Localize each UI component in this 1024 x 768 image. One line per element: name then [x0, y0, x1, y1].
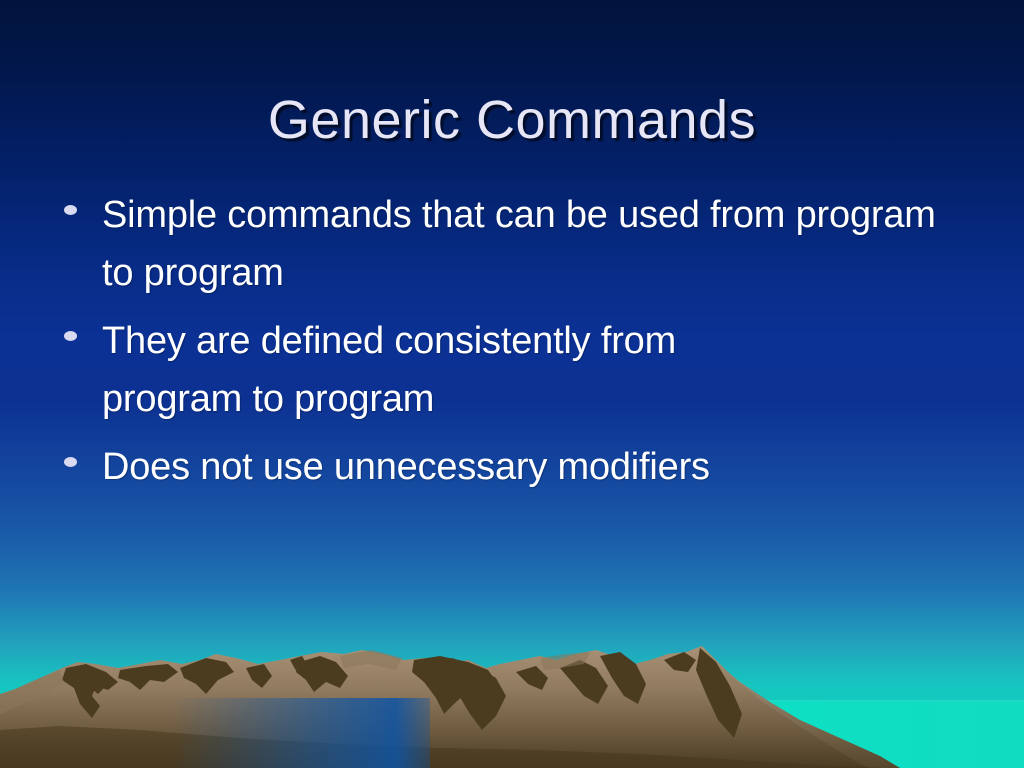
bullet-text: Does not use unnecessary modifiers	[102, 438, 947, 496]
bullet-marker-icon	[58, 438, 102, 467]
bullet-text: Simple commands that can be used from pr…	[102, 186, 947, 302]
bullet-item: Simple commands that can be used from pr…	[58, 186, 958, 302]
bullet-text: They are defined consistently from progr…	[102, 312, 817, 428]
slide-title: Generic Commands	[0, 88, 1024, 152]
presentation-slide: Generic Commands Simple commands that ca…	[0, 0, 1024, 768]
bullet-marker-icon	[58, 186, 102, 215]
bullet-marker-icon	[58, 312, 102, 341]
bottom-left-blue-wash	[0, 698, 430, 768]
slide-body-content: Simple commands that can be used from pr…	[58, 186, 958, 506]
bullet-item: Does not use unnecessary modifiers	[58, 438, 958, 496]
bullet-item: They are defined consistently from progr…	[58, 312, 958, 428]
